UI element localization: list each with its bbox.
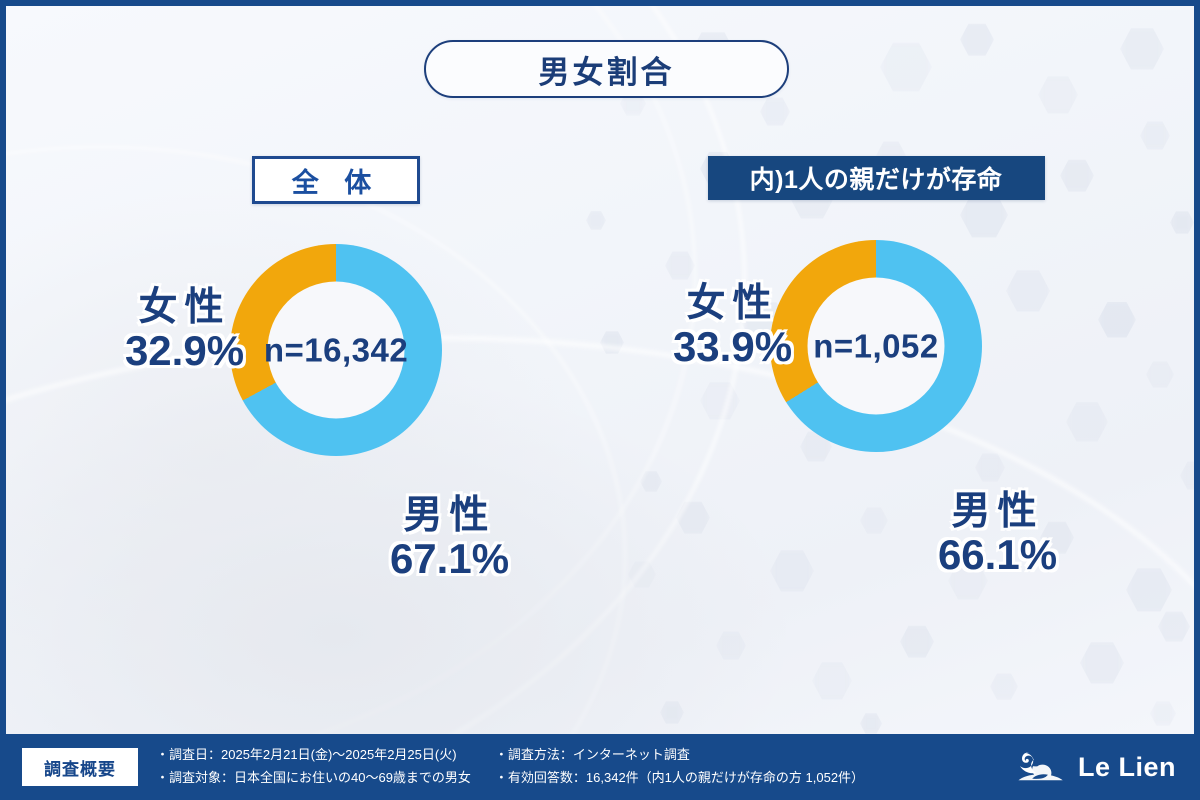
background-hexagon (960, 22, 994, 57)
background-hexagon (1146, 360, 1174, 389)
footer-column-1: ・調査日：2025年2月21日(金)～2025年2月25日(火) ・調査対象：日… (156, 744, 471, 790)
footer-badge-text: 調査概要 (44, 755, 116, 780)
segment-label-male-pct-overall: 67.1% (342, 538, 557, 581)
donut-wrap-oneparent: n=1,052 女性 33.9% 男性 66.1% (606, 216, 1146, 596)
segment-label-male-overall: 男性 67.1% (342, 496, 557, 581)
chart-caption-overall: 全 体 (252, 156, 420, 204)
footer-survey-date: ・調査日：2025年2月21日(金)～2025年2月25日(火) (156, 744, 471, 767)
chart-panel-oneparent: 内)1人の親だけが存命 n=1,052 女性 33.9% 男性 66.1% (606, 156, 1146, 596)
wave-logo-icon (1012, 748, 1068, 786)
segment-label-female-pct-oneparent: 33.9% (630, 326, 835, 369)
segment-label-male-oneparent: 男性 66.1% (890, 492, 1105, 577)
background-hexagon (1170, 210, 1194, 235)
segment-label-female-oneparent: 女性 33.9% (630, 284, 835, 369)
background-hexagon (1038, 74, 1078, 116)
segment-label-male-word-oneparent: 男性 (890, 492, 1105, 532)
donut-hole-overall: n=16,342 (268, 282, 405, 419)
footer-survey-target: ・調査対象：日本全国にお住いの40～69歳までの男女 (156, 767, 471, 790)
footer-badge: 調査概要 (22, 748, 138, 786)
background-hexagon (1180, 460, 1194, 491)
page-title-text: 男女割合 (539, 47, 675, 92)
donut-wrap-overall: n=16,342 女性 32.9% 男性 67.1% (66, 220, 606, 600)
background-hexagon (880, 40, 932, 94)
brand-logo-text: Le Lien (1078, 752, 1176, 783)
segment-label-male-word-overall: 男性 (342, 496, 557, 536)
footer-survey-responses: ・有効回答数：16,342件（内1人の親だけが存命の方 1,052件） (495, 767, 864, 790)
segment-label-female-word-oneparent: 女性 (630, 284, 835, 324)
segment-label-male-pct-oneparent: 66.1% (890, 534, 1105, 577)
segment-label-female-overall: 女性 32.9% (82, 288, 287, 373)
background-hexagon (1140, 120, 1170, 151)
chart-caption-oneparent-text: 内)1人の親だけが存命 (750, 160, 1003, 196)
footer-bar: 調査概要 ・調査日：2025年2月21日(金)～2025年2月25日(火) ・調… (0, 734, 1200, 800)
chart-caption-overall-text: 全 体 (292, 161, 381, 200)
segment-label-female-pct-overall: 32.9% (82, 330, 287, 373)
background-hexagon (760, 96, 790, 127)
footer-column-2: ・調査方法：インターネット調査 ・有効回答数：16,342件（内1人の親だけが存… (495, 744, 864, 790)
slide-canvas: 男女割合 全 体 n=16,342 女性 32.9% 男性 67.1% (6, 6, 1194, 734)
page-title: 男女割合 (424, 40, 789, 98)
chart-caption-oneparent: 内)1人の親だけが存命 (708, 156, 1045, 200)
brand-logo: Le Lien (1012, 748, 1176, 786)
footer-survey-method: ・調査方法：インターネット調査 (495, 744, 864, 767)
segment-label-female-word-overall: 女性 (82, 288, 287, 328)
background-hexagon (1120, 26, 1164, 72)
chart-panel-overall: 全 体 n=16,342 女性 32.9% 男性 67.1% (66, 156, 606, 600)
slide-root: 男女割合 全 体 n=16,342 女性 32.9% 男性 67.1% (0, 0, 1200, 800)
